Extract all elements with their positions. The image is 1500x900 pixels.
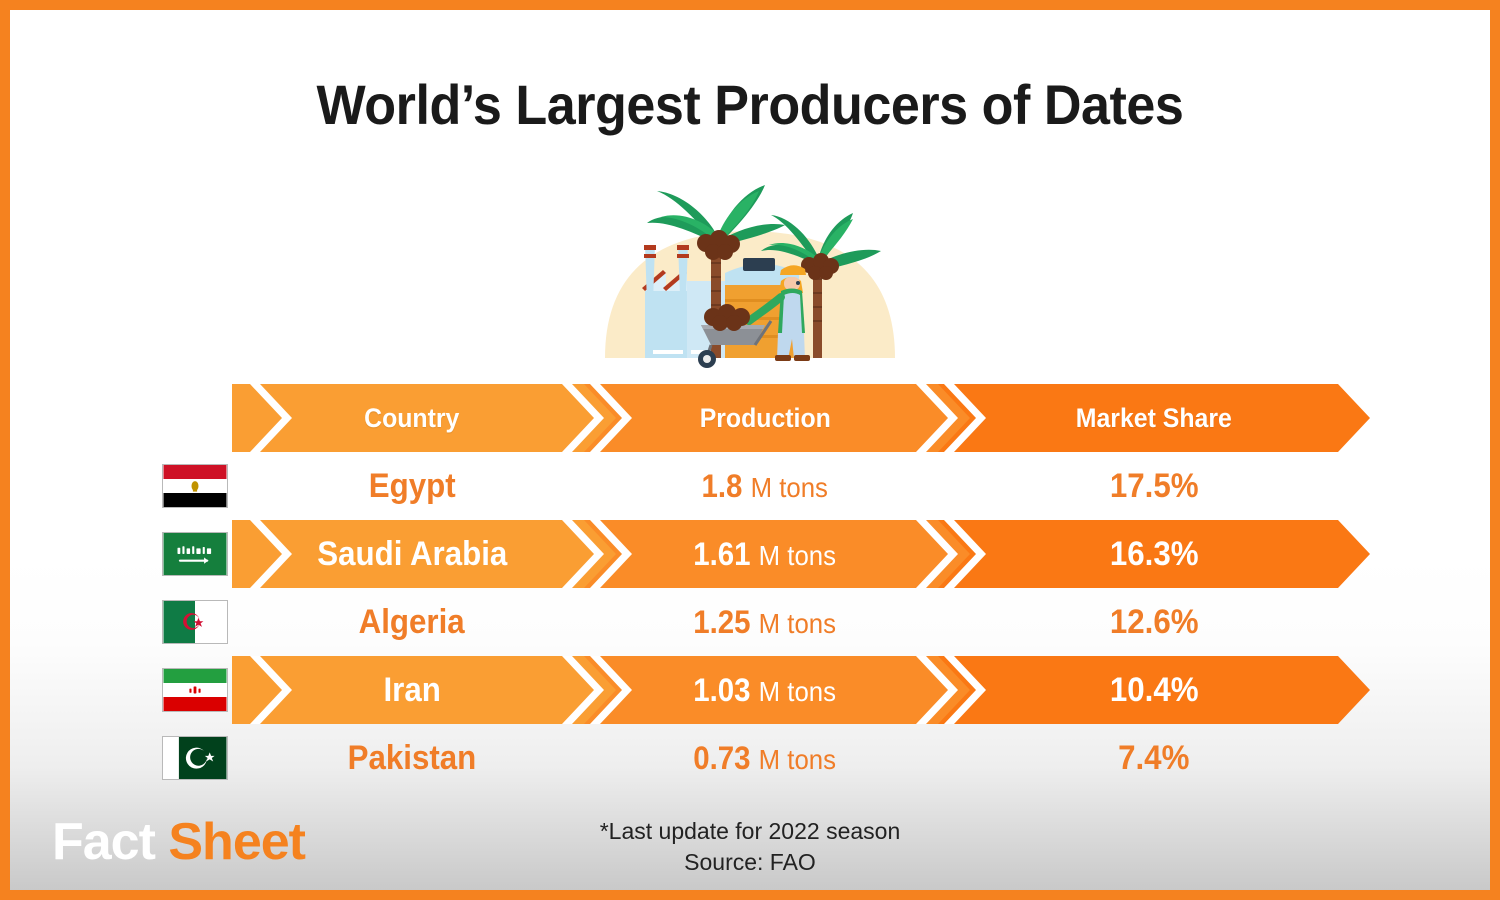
row-ribbon: Egypt 1.8 M tons 17.5% (232, 452, 1370, 520)
header-country-label: Country (364, 403, 459, 434)
row-ribbon: Iran 1.03 M tons 10.4% (232, 656, 1370, 724)
table-row: Pakistan 0.73 M tons 7.4% (10, 724, 1490, 792)
country-name: Saudi Arabia (317, 535, 507, 574)
cell-country: Egypt (232, 452, 592, 520)
production-number: 1.61 (694, 536, 751, 572)
table-header-row: Country Production Market Share (10, 384, 1490, 452)
cell-production: 1.25 M tons (584, 588, 946, 656)
production-value: 1.03 M tons (694, 672, 837, 709)
logo-part-fact: Fact (52, 813, 155, 871)
table-row: Algeria 1.25 M tons 12.6% (10, 588, 1490, 656)
cell-production: 0.73 M tons (584, 724, 946, 792)
egypt-flag (162, 464, 228, 508)
production-unit: M tons (759, 676, 836, 707)
iran-flag (162, 668, 228, 712)
row-ribbon: Algeria 1.25 M tons 12.6% (232, 588, 1370, 656)
cell-market-share: 7.4% (938, 724, 1370, 792)
header-ribbon: Country Production Market Share (232, 384, 1370, 452)
pakistan-flag (162, 736, 228, 780)
cell-country: Algeria (232, 588, 592, 656)
production-unit: M tons (759, 744, 836, 775)
row-ribbon: Saudi Arabia 1.61 M tons 16.3% (232, 520, 1370, 588)
production-value: 1.8 M tons (702, 468, 828, 505)
fact-sheet-logo: Fact Sheet (52, 812, 305, 872)
table-row: Saudi Arabia 1.61 M tons 16.3% (10, 520, 1490, 588)
page-title: World’s Largest Producers of Dates (62, 72, 1438, 137)
producers-table: Country Production Market Share (10, 384, 1490, 792)
cell-market-share: 12.6% (938, 588, 1370, 656)
production-unit: M tons (759, 540, 836, 571)
row-ribbon: Pakistan 0.73 M tons 7.4% (232, 724, 1370, 792)
production-number: 0.73 (694, 740, 751, 776)
country-name: Iran (383, 671, 440, 710)
market-share-value: 12.6% (1110, 603, 1199, 642)
production-number: 1.25 (694, 604, 751, 640)
saudi-arabia-flag (162, 532, 228, 576)
country-name: Pakistan (348, 739, 477, 778)
market-share-value: 16.3% (1110, 535, 1199, 574)
market-share-value: 17.5% (1110, 467, 1199, 506)
production-unit: M tons (751, 472, 828, 503)
header-market-share-label: Market Share (1076, 403, 1232, 434)
cell-production: 1.8 M tons (584, 452, 946, 520)
cell-country: Pakistan (232, 724, 592, 792)
logo-part-sheet: Sheet (168, 813, 305, 871)
production-unit: M tons (759, 608, 836, 639)
infographic-frame: World’s Largest Producers of Dates (0, 0, 1500, 900)
production-number: 1.03 (694, 672, 751, 708)
production-value: 0.73 M tons (694, 740, 837, 777)
production-number: 1.8 (702, 468, 743, 504)
market-share-value: 10.4% (1110, 671, 1199, 710)
production-value: 1.25 M tons (694, 604, 837, 641)
country-name: Algeria (359, 603, 465, 642)
table-row: Egypt 1.8 M tons 17.5% (10, 452, 1490, 520)
production-value: 1.61 M tons (694, 536, 837, 573)
market-share-value: 7.4% (1118, 739, 1189, 778)
country-name: Egypt (369, 467, 456, 506)
header-production-label: Production (699, 403, 830, 434)
algeria-flag (162, 600, 228, 644)
table-row: Iran 1.03 M tons 10.4% (10, 656, 1490, 724)
date-farming-illustration (585, 173, 915, 373)
cell-market-share: 17.5% (938, 452, 1370, 520)
